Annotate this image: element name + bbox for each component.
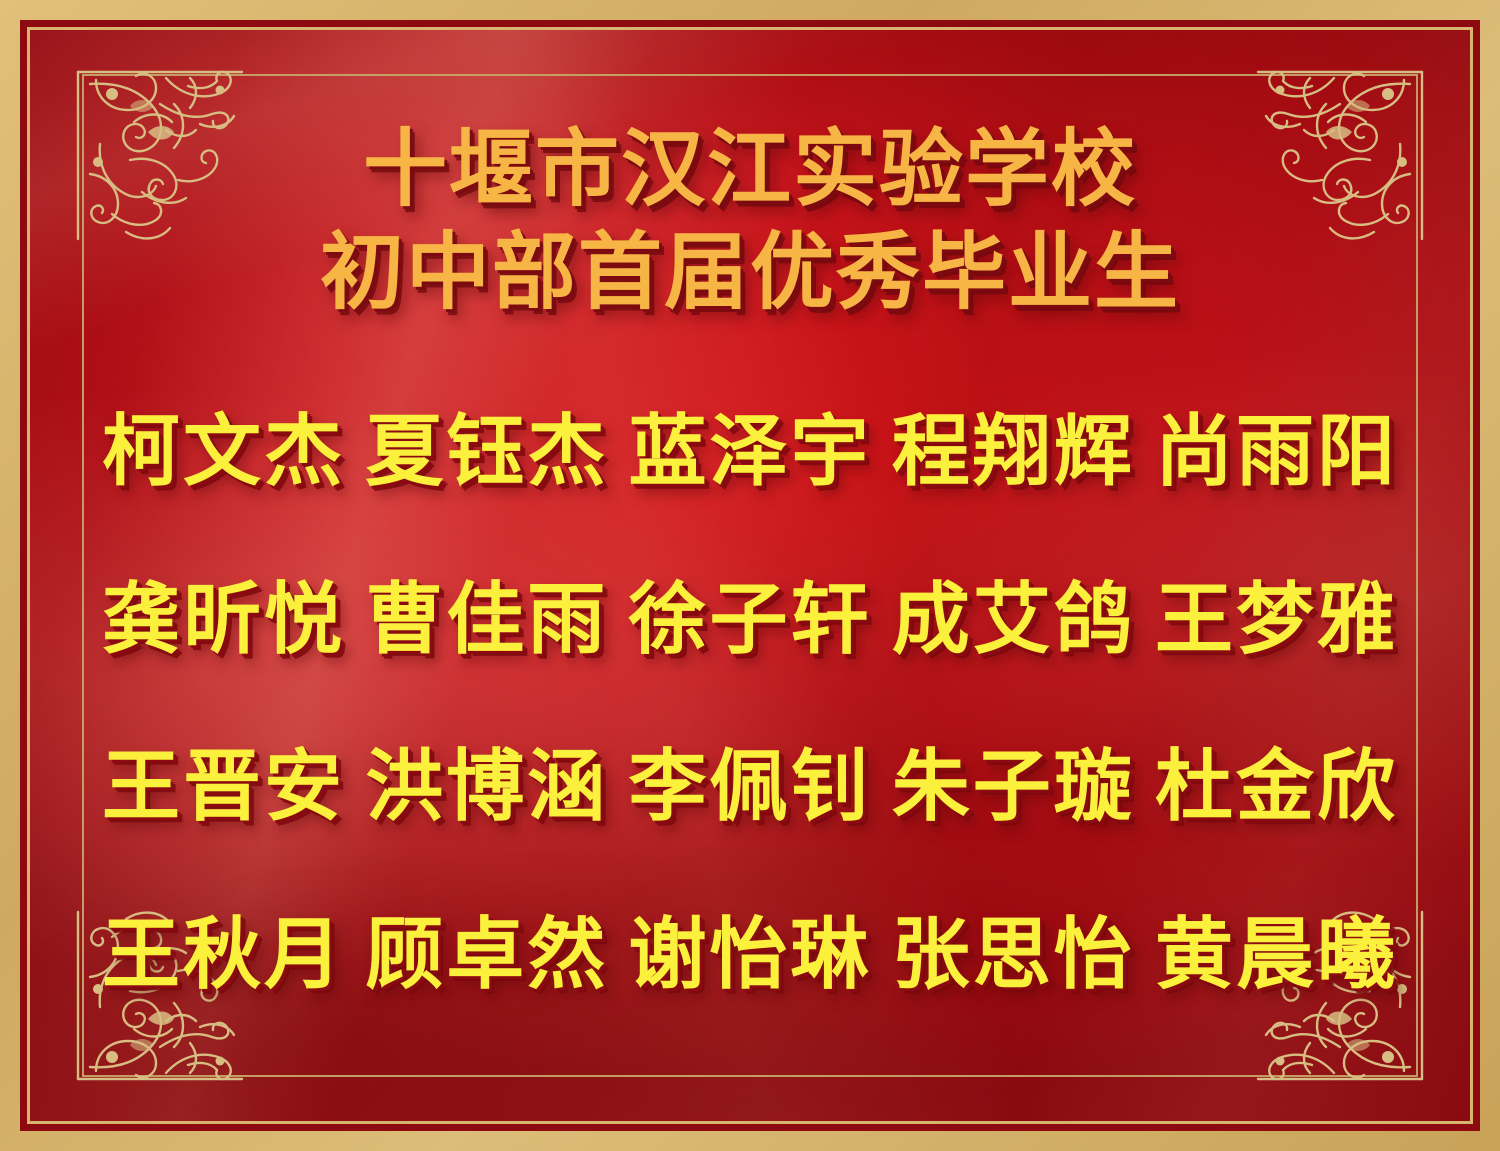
graduate-name: 龚昕悦 xyxy=(102,579,345,662)
poster-title: 十堰市汉江实验学校 初中部首届优秀毕业生 xyxy=(88,122,1412,323)
graduate-name: 洪博涵 xyxy=(365,746,608,829)
graduate-name: 张思怡 xyxy=(892,914,1135,997)
graduate-name: 王秋月 xyxy=(102,914,345,997)
name-row: 王晋安 洪博涵 李佩钊 朱子璇 杜金欣 xyxy=(102,746,1398,829)
title-line-school: 十堰市汉江实验学校 xyxy=(88,122,1412,219)
graduate-name: 谢怡琳 xyxy=(628,914,871,997)
graduate-name: 顾卓然 xyxy=(365,914,608,997)
title-line-subtitle: 初中部首届优秀毕业生 xyxy=(88,225,1412,322)
graduate-name: 程翔辉 xyxy=(892,411,1135,494)
poster-gutter: 十堰市汉江实验学校 初中部首届优秀毕业生 柯文杰 夏钰杰 蓝泽宇 程翔辉 尚雨阳… xyxy=(20,20,1480,1131)
graduate-name: 黄晨曦 xyxy=(1155,914,1398,997)
poster-content: 十堰市汉江实验学校 初中部首届优秀毕业生 柯文杰 夏钰杰 蓝泽宇 程翔辉 尚雨阳… xyxy=(30,30,1470,1121)
name-row: 龚昕悦 曹佳雨 徐子轩 成艾鸽 王梦雅 xyxy=(102,579,1398,662)
graduate-name: 曹佳雨 xyxy=(365,579,608,662)
graduate-name: 夏钰杰 xyxy=(365,411,608,494)
poster-hairline-border: 十堰市汉江实验学校 初中部首届优秀毕业生 柯文杰 夏钰杰 蓝泽宇 程翔辉 尚雨阳… xyxy=(27,27,1473,1124)
graduate-name-list: 柯文杰 夏钰杰 蓝泽宇 程翔辉 尚雨阳 龚昕悦 曹佳雨 徐子轩 成艾鸽 王梦雅 xyxy=(88,323,1412,1065)
graduate-name: 李佩钊 xyxy=(628,746,871,829)
graduate-name: 王梦雅 xyxy=(1155,579,1398,662)
graduate-name: 杜金欣 xyxy=(1155,746,1398,829)
graduate-name: 柯文杰 xyxy=(102,411,345,494)
name-row: 王秋月 顾卓然 谢怡琳 张思怡 黄晨曦 xyxy=(102,914,1398,997)
graduate-name: 成艾鸽 xyxy=(892,579,1135,662)
graduate-name: 蓝泽宇 xyxy=(628,411,871,494)
graduate-name: 王晋安 xyxy=(102,746,345,829)
name-row: 柯文杰 夏钰杰 蓝泽宇 程翔辉 尚雨阳 xyxy=(102,411,1398,494)
graduate-name: 尚雨阳 xyxy=(1155,411,1398,494)
graduate-name: 朱子璇 xyxy=(892,746,1135,829)
honor-roll-poster: 十堰市汉江实验学校 初中部首届优秀毕业生 柯文杰 夏钰杰 蓝泽宇 程翔辉 尚雨阳… xyxy=(0,0,1500,1151)
graduate-name: 徐子轩 xyxy=(628,579,871,662)
